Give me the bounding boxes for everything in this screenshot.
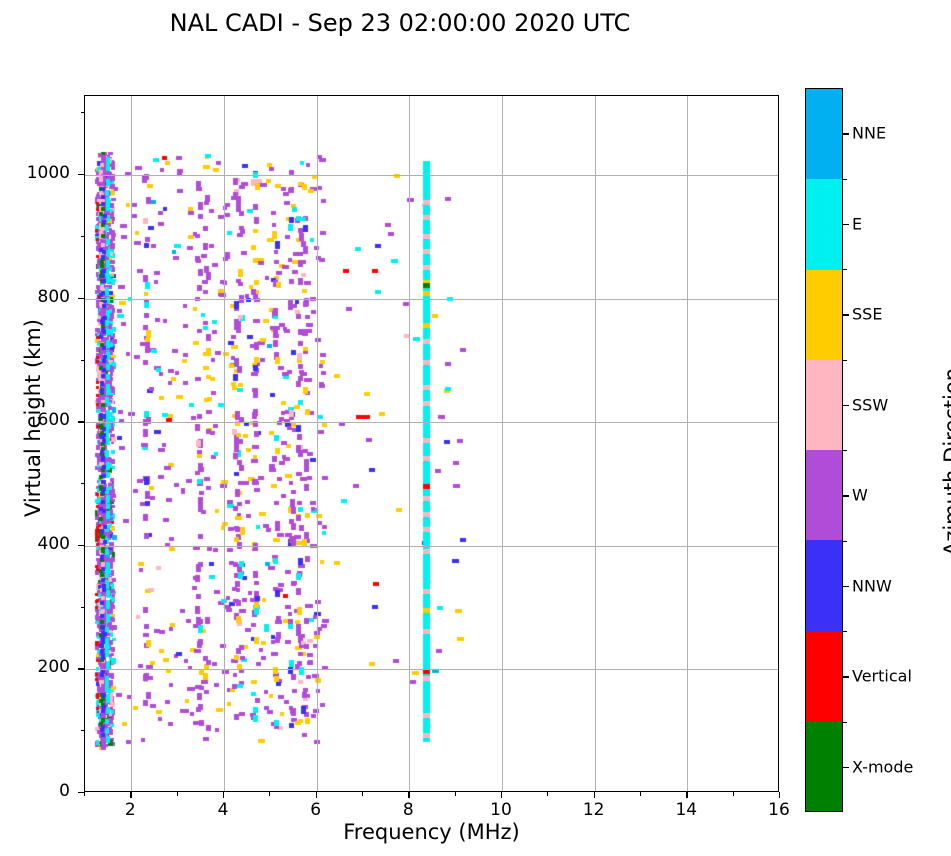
x-tick-label: 16 bbox=[754, 800, 804, 820]
y-tick-label: 200 bbox=[8, 657, 70, 677]
colorbar-segment-vertical bbox=[806, 631, 842, 721]
colorbar-boundary-tick bbox=[843, 360, 847, 361]
x-tick-label: 2 bbox=[105, 800, 155, 820]
colorbar-boundary-tick bbox=[843, 179, 847, 180]
gridline-vertical bbox=[131, 96, 132, 791]
y-tick-minor bbox=[81, 730, 85, 731]
x-tick-label: 8 bbox=[383, 800, 433, 820]
y-tick-mark bbox=[78, 545, 84, 546]
x-tick-minor bbox=[455, 792, 456, 796]
x-axis-label: Frequency (MHz) bbox=[84, 820, 779, 844]
plot-area[interactable] bbox=[84, 95, 779, 792]
colorbar-boundary-tick bbox=[843, 631, 847, 632]
y-tick-mark bbox=[78, 792, 84, 793]
colorbar-tick bbox=[843, 676, 849, 677]
x-tick-label: 4 bbox=[198, 800, 248, 820]
x-tick-mark bbox=[686, 792, 687, 798]
gridline-horizontal bbox=[85, 669, 778, 670]
gridline-vertical bbox=[224, 96, 225, 791]
y-tick-mark bbox=[78, 668, 84, 669]
y-tick-minor bbox=[81, 236, 85, 237]
colorbar-axis-label: Azimuth Direction bbox=[940, 352, 951, 572]
colorbar-label-e: E bbox=[852, 214, 862, 233]
colorbar-label-w: W bbox=[852, 486, 868, 505]
x-tick-label: 14 bbox=[661, 800, 711, 820]
y-tick-minor bbox=[81, 360, 85, 361]
gridline-horizontal bbox=[85, 422, 778, 423]
ionogram-figure: NAL CADI - Sep 23 02:00:00 2020 UTC Freq… bbox=[0, 0, 951, 856]
colorbar-boundary-tick bbox=[843, 541, 847, 542]
colorbar-segment-ssw bbox=[806, 360, 842, 450]
x-tick-label: 6 bbox=[291, 800, 341, 820]
colorbar-tick bbox=[843, 405, 849, 406]
y-tick-label: 800 bbox=[8, 287, 70, 307]
y-tick-minor bbox=[81, 112, 85, 113]
x-tick-minor bbox=[362, 792, 363, 796]
colorbar-segment-nne bbox=[806, 89, 842, 179]
y-tick-minor bbox=[81, 483, 85, 484]
gridline-vertical bbox=[595, 96, 596, 791]
colorbar-boundary-tick bbox=[843, 269, 847, 270]
x-tick-minor bbox=[84, 792, 85, 796]
y-tick-label: 600 bbox=[8, 410, 70, 430]
gridline-horizontal bbox=[85, 546, 778, 547]
colorbar[interactable] bbox=[805, 88, 843, 812]
colorbar-tick bbox=[843, 224, 849, 225]
x-tick-mark bbox=[316, 792, 317, 798]
y-tick-minor bbox=[81, 607, 85, 608]
page-title: NAL CADI - Sep 23 02:00:00 2020 UTC bbox=[0, 9, 800, 37]
x-tick-mark bbox=[779, 792, 780, 798]
colorbar-label-sse: SSE bbox=[852, 305, 882, 324]
x-tick-mark bbox=[130, 792, 131, 798]
colorbar-boundary-tick bbox=[843, 722, 847, 723]
colorbar-segment-x-mode bbox=[806, 721, 842, 811]
colorbar-label-nnw: NNW bbox=[852, 576, 892, 595]
x-tick-mark bbox=[408, 792, 409, 798]
colorbar-label-nne: NNE bbox=[852, 124, 886, 143]
x-tick-minor bbox=[733, 792, 734, 796]
colorbar-tick bbox=[843, 586, 849, 587]
gridline-vertical bbox=[409, 96, 410, 791]
x-tick-minor bbox=[640, 792, 641, 796]
colorbar-label-x-mode: X-mode bbox=[852, 757, 913, 776]
colorbar-boundary-tick bbox=[843, 450, 847, 451]
x-tick-label: 10 bbox=[476, 800, 526, 820]
gridline-vertical bbox=[687, 96, 688, 791]
x-tick-minor bbox=[177, 792, 178, 796]
gridline-vertical bbox=[317, 96, 318, 791]
y-tick-mark bbox=[78, 298, 84, 299]
y-tick-mark bbox=[78, 174, 84, 175]
colorbar-segment-sse bbox=[806, 270, 842, 360]
colorbar-segment-w bbox=[806, 450, 842, 540]
colorbar-label-ssw: SSW bbox=[852, 395, 888, 414]
x-tick-minor bbox=[269, 792, 270, 796]
colorbar-segment-nnw bbox=[806, 540, 842, 630]
x-tick-mark bbox=[223, 792, 224, 798]
x-tick-mark bbox=[501, 792, 502, 798]
colorbar-label-vertical: Vertical bbox=[852, 667, 912, 686]
gridline-horizontal bbox=[85, 299, 778, 300]
colorbar-tick bbox=[843, 495, 849, 496]
colorbar-tick bbox=[843, 133, 849, 134]
x-tick-minor bbox=[547, 792, 548, 796]
gridline-vertical bbox=[502, 96, 503, 791]
x-tick-mark bbox=[594, 792, 595, 798]
x-tick-label: 12 bbox=[569, 800, 619, 820]
y-tick-label: 1000 bbox=[8, 163, 70, 183]
scatter-data-canvas bbox=[85, 96, 779, 792]
colorbar-segment-e bbox=[806, 179, 842, 269]
gridline-horizontal bbox=[85, 175, 778, 176]
colorbar-tick bbox=[843, 767, 849, 768]
y-tick-mark bbox=[78, 421, 84, 422]
y-tick-label: 0 bbox=[8, 781, 70, 801]
colorbar-tick bbox=[843, 314, 849, 315]
y-tick-label: 400 bbox=[8, 534, 70, 554]
